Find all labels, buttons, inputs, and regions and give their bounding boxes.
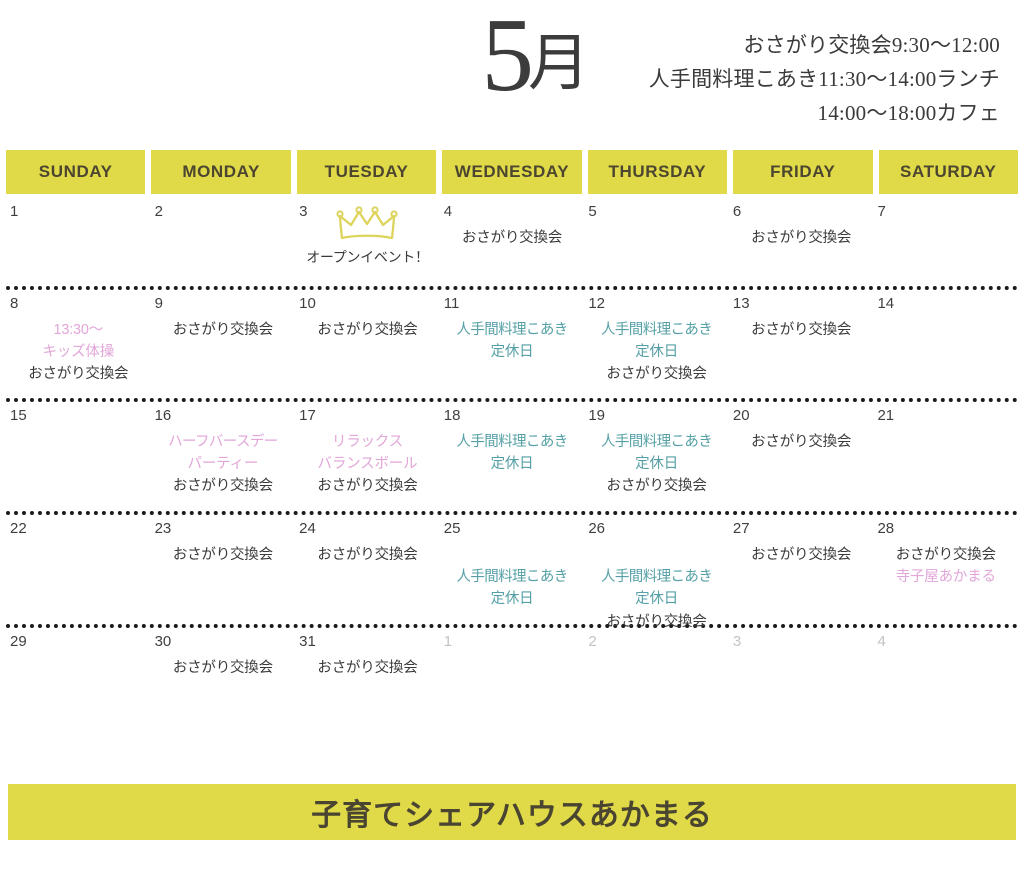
weekday-header-sunday: SUNDAY: [6, 150, 145, 194]
calendar-day-cell[interactable]: 2: [151, 198, 296, 286]
day-number: 4: [444, 204, 581, 221]
calendar-day-cell[interactable]: 31おさがり交換会: [295, 628, 440, 738]
day-number: 1: [444, 634, 581, 651]
day-events: おさがり交換会: [733, 544, 870, 566]
event-label: 人手間料理こあき: [444, 319, 581, 341]
day-events: おさがり交換会: [155, 319, 292, 341]
month-number: 5: [481, 4, 532, 107]
business-hours: おさがり交換会9:30〜12:00 人手間料理こあき11:30〜14:00ランチ…: [590, 0, 1024, 130]
day-number: 16: [155, 408, 292, 425]
day-events: おさがり交換会: [733, 227, 870, 249]
event-label: 人手間料理こあき: [444, 566, 581, 588]
day-number: 31: [299, 634, 436, 651]
calendar-day-cell[interactable]: 3: [729, 628, 874, 738]
event-label: 定休日: [588, 588, 725, 610]
calendar-day-cell[interactable]: 3オープンイベント！: [295, 198, 440, 286]
calendar-day-cell[interactable]: 16ハーフバースデーパーティーおさがり交換会: [151, 402, 296, 511]
hours-line-2: 人手間料理こあき11:30〜14:00ランチ: [590, 62, 1000, 96]
event-label: バランスボール: [299, 453, 436, 475]
calendar-day-cell[interactable]: 4: [873, 628, 1018, 738]
day-number: 2: [155, 204, 292, 221]
day-number: 9: [155, 296, 292, 313]
event-label: 13:30〜: [10, 319, 147, 341]
day-events: おさがり交換会: [733, 319, 870, 341]
month-title: 5 月: [0, 0, 590, 107]
calendar-day-cell[interactable]: 17リラックスバランスボールおさがり交換会: [295, 402, 440, 511]
calendar-week-row: 2930おさがり交換会31おさがり交換会1234: [6, 628, 1018, 738]
calendar-week-row: 1516ハーフバースデーパーティーおさがり交換会17リラックスバランスボールおさ…: [6, 402, 1018, 515]
calendar-day-cell[interactable]: 4おさがり交換会: [440, 198, 585, 286]
day-number: 8: [10, 296, 147, 313]
hours-line-1: おさがり交換会9:30〜12:00: [590, 28, 1000, 62]
event-label: おさがり交換会: [588, 363, 725, 385]
weekday-header-saturday: SATURDAY: [879, 150, 1018, 194]
calendar-day-cell[interactable]: 22: [6, 515, 151, 624]
day-number: 30: [155, 634, 292, 651]
day-number: 19: [588, 408, 725, 425]
day-events: おさがり交換会: [299, 544, 436, 566]
day-events: 人手間料理こあき定休日: [444, 431, 581, 476]
calendar-day-cell[interactable]: 25 人手間料理こあき定休日: [440, 515, 585, 624]
day-number: 24: [299, 521, 436, 538]
event-label: おさがり交換会: [299, 475, 436, 497]
event-label: おさがり交換会: [733, 319, 870, 341]
day-number: 6: [733, 204, 870, 221]
calendar-day-cell[interactable]: 1: [6, 198, 151, 286]
event-label: パーティー: [155, 453, 292, 475]
event-label: 定休日: [588, 453, 725, 475]
day-number: 23: [155, 521, 292, 538]
event-label: おさがり交換会: [10, 363, 147, 385]
day-number: 17: [299, 408, 436, 425]
event-label: おさがり交換会: [299, 657, 436, 679]
calendar-day-cell[interactable]: 13おさがり交換会: [729, 290, 874, 398]
event-label: おさがり交換会: [733, 227, 870, 249]
day-events: ハーフバースデーパーティーおさがり交換会: [155, 431, 292, 498]
day-number: 25: [444, 521, 581, 538]
day-number: 7: [877, 204, 1014, 221]
calendar-day-cell[interactable]: 2: [584, 628, 729, 738]
event-label: おさがり交換会: [155, 475, 292, 497]
calendar-day-cell[interactable]: 21: [873, 402, 1018, 511]
event-label: ハーフバースデー: [155, 431, 292, 453]
event-label: リラックス: [299, 431, 436, 453]
day-events: おさがり交換会寺子屋あかまる: [877, 544, 1014, 589]
calendar-day-cell[interactable]: 26 人手間料理こあき定休日おさがり交換会: [584, 515, 729, 624]
event-label: おさがり交換会: [155, 657, 292, 679]
event-label: 定休日: [588, 341, 725, 363]
calendar-day-cell[interactable]: 30おさがり交換会: [151, 628, 296, 738]
calendar-day-cell[interactable]: 6おさがり交換会: [729, 198, 874, 286]
calendar-day-cell[interactable]: 18人手間料理こあき定休日: [440, 402, 585, 511]
day-events: 人手間料理こあき定休日おさがり交換会: [588, 319, 725, 386]
calendar-day-cell[interactable]: 20おさがり交換会: [729, 402, 874, 511]
event-label: 定休日: [444, 341, 581, 363]
month-kanji: 月: [528, 33, 590, 95]
day-number: 3: [733, 634, 870, 651]
day-number: 21: [877, 408, 1014, 425]
event-label: おさがり交換会: [877, 544, 1014, 566]
day-events: リラックスバランスボールおさがり交換会: [299, 431, 436, 498]
weekday-header-monday: MONDAY: [151, 150, 290, 194]
event-label: オープンイベント！: [299, 247, 436, 267]
weekday-header-friday: FRIDAY: [733, 150, 872, 194]
day-events: おさがり交換会: [733, 431, 870, 453]
day-number: 22: [10, 521, 147, 538]
calendar-day-cell[interactable]: 27おさがり交換会: [729, 515, 874, 624]
footer-spacer: [0, 738, 1024, 784]
event-label: [444, 544, 581, 566]
calendar-day-cell[interactable]: 7: [873, 198, 1018, 286]
day-number: 5: [588, 204, 725, 221]
event-label: おさがり交換会: [444, 227, 581, 249]
calendar-day-cell[interactable]: 9おさがり交換会: [151, 290, 296, 398]
day-events: おさがり交換会: [155, 544, 292, 566]
day-number: 14: [877, 296, 1014, 313]
weekday-header-thursday: THURSDAY: [588, 150, 727, 194]
calendar-day-cell[interactable]: 10おさがり交換会: [295, 290, 440, 398]
day-events: おさがり交換会: [155, 657, 292, 679]
event-label: おさがり交換会: [299, 319, 436, 341]
footer-title: 子育てシェアハウスあかまる: [311, 790, 713, 834]
calendar-week-row: 123オープンイベント！4おさがり交換会56おさがり交換会7: [6, 198, 1018, 290]
event-label: 人手間料理こあき: [588, 319, 725, 341]
day-events: 人手間料理こあき定休日: [444, 544, 581, 611]
calendar-day-cell[interactable]: 15: [6, 402, 151, 511]
day-number: 27: [733, 521, 870, 538]
day-number: 20: [733, 408, 870, 425]
event-label: おさがり交換会: [588, 475, 725, 497]
calendar-day-cell[interactable]: 23おさがり交換会: [151, 515, 296, 624]
day-number: 28: [877, 521, 1014, 538]
day-events: おさがり交換会: [444, 227, 581, 249]
calendar-day-cell[interactable]: 19人手間料理こあき定休日おさがり交換会: [584, 402, 729, 511]
calendar-day-cell[interactable]: 813:30〜キッズ体操おさがり交換会: [6, 290, 151, 398]
day-number: 4: [877, 634, 1014, 651]
calendar-day-cell[interactable]: 14: [873, 290, 1018, 398]
day-number: 29: [10, 634, 147, 651]
calendar-header: 5 月 おさがり交換会9:30〜12:00 人手間料理こあき11:30〜14:0…: [0, 0, 1024, 150]
day-number: 13: [733, 296, 870, 313]
event-label: 定休日: [444, 588, 581, 610]
day-number: 2: [588, 634, 725, 651]
calendar-grid: 123オープンイベント！4おさがり交換会56おさがり交換会7813:30〜キッズ…: [0, 198, 1024, 738]
event-label: 定休日: [444, 453, 581, 475]
event-label: キッズ体操: [10, 341, 147, 363]
calendar-week-row: 2223おさがり交換会24おさがり交換会25 人手間料理こあき定休日26 人手間…: [6, 515, 1018, 628]
calendar-day-cell[interactable]: 11人手間料理こあき定休日: [440, 290, 585, 398]
event-label: 人手間料理こあき: [444, 431, 581, 453]
day-events: 13:30〜キッズ体操おさがり交換会: [10, 319, 147, 386]
event-label: 人手間料理こあき: [588, 431, 725, 453]
day-events: 人手間料理こあき定休日おさがり交換会: [588, 431, 725, 498]
weekday-header-tuesday: TUESDAY: [297, 150, 436, 194]
event-label: おさがり交換会: [299, 544, 436, 566]
event-label: [588, 544, 725, 566]
calendar-day-cell[interactable]: 5: [584, 198, 729, 286]
calendar-day-cell[interactable]: 12人手間料理こあき定休日おさがり交換会: [584, 290, 729, 398]
event-label: おさがり交換会: [155, 544, 292, 566]
event-label: おさがり交換会: [155, 319, 292, 341]
day-number: 11: [444, 296, 581, 313]
calendar-day-cell[interactable]: 28おさがり交換会寺子屋あかまる: [873, 515, 1018, 624]
day-number: 18: [444, 408, 581, 425]
event-label: 人手間料理こあき: [588, 566, 725, 588]
day-number: 15: [10, 408, 147, 425]
calendar-day-cell[interactable]: 1: [440, 628, 585, 738]
day-events: おさがり交換会: [299, 657, 436, 679]
calendar-day-cell[interactable]: 29: [6, 628, 151, 738]
crown-icon: [299, 205, 436, 245]
weekday-header-row: SUNDAY MONDAY TUESDAY WEDNESDAY THURSDAY…: [0, 150, 1024, 198]
day-events: 人手間料理こあき定休日: [444, 319, 581, 364]
day-events: おさがり交換会: [299, 319, 436, 341]
calendar-day-cell[interactable]: 24おさがり交換会: [295, 515, 440, 624]
event-label: おさがり交換会: [733, 431, 870, 453]
day-number: 10: [299, 296, 436, 313]
calendar-week-row: 813:30〜キッズ体操おさがり交換会9おさがり交換会10おさがり交換会11人手…: [6, 290, 1018, 402]
hours-line-3: 14:00〜18:00カフェ: [590, 96, 1000, 130]
footer-banner: 子育てシェアハウスあかまる: [8, 784, 1016, 840]
weekday-header-wednesday: WEDNESDAY: [442, 150, 581, 194]
event-label: おさがり交換会: [733, 544, 870, 566]
day-events: 人手間料理こあき定休日おさがり交換会: [588, 544, 725, 634]
event-label: 寺子屋あかまる: [877, 566, 1014, 588]
day-number: 12: [588, 296, 725, 313]
day-number: 26: [588, 521, 725, 538]
day-number: 1: [10, 204, 147, 221]
